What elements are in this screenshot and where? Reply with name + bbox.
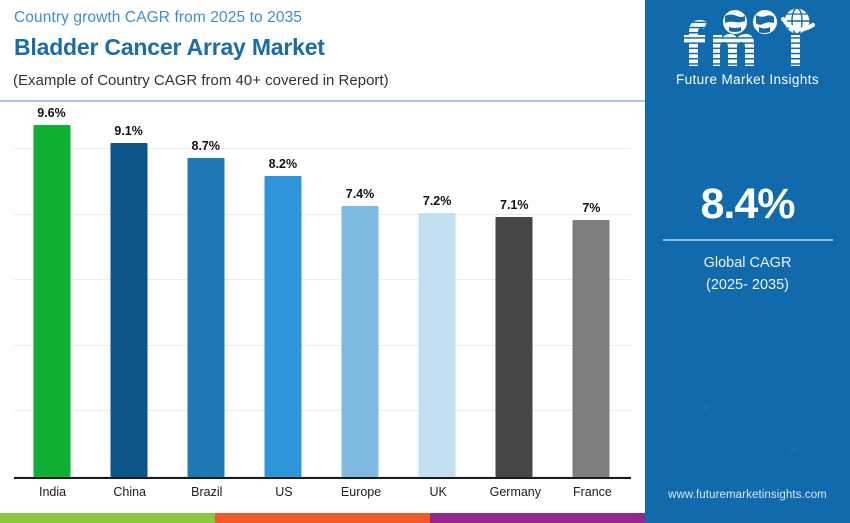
bar-group[interactable]: 7.2% xyxy=(400,103,475,477)
cagr-caption-line-1: Global CAGR xyxy=(645,252,850,274)
fmi-logo: Future Market Insights xyxy=(645,6,850,98)
bar-value-label: 8.7% xyxy=(192,139,221,153)
globe-europe-icon xyxy=(753,10,777,34)
fmi-logo-mark xyxy=(645,6,850,72)
x-axis-labels: IndiaChinaBrazilUSEuropeUKGermanyFrance xyxy=(0,479,645,509)
header-divider xyxy=(0,100,645,102)
cagr-divider xyxy=(663,239,833,241)
globe-americas-icon xyxy=(723,10,747,34)
bar-value-label: 8.2% xyxy=(269,157,298,171)
global-cagr-block: 8.4% Global CAGR (2025- 2035) xyxy=(645,180,850,297)
letter-f xyxy=(684,20,707,66)
strip-segment-green xyxy=(0,513,215,523)
bar-group[interactable]: 7.4% xyxy=(323,103,398,477)
bar-group[interactable]: 8.2% xyxy=(245,103,320,477)
bar-value-label: 9.1% xyxy=(114,124,143,138)
x-axis-tick-label: India xyxy=(14,485,91,499)
bar[interactable] xyxy=(264,176,301,477)
x-axis-tick-label: Brazil xyxy=(168,485,245,499)
global-cagr-caption: Global CAGR (2025- 2035) xyxy=(645,252,850,297)
x-axis-tick-label: Germany xyxy=(477,485,554,499)
x-axis-tick-label: US xyxy=(245,485,322,499)
x-axis-tick-label: China xyxy=(91,485,168,499)
letter-m xyxy=(713,34,754,66)
infographic-root: Country growth CAGR from 2025 to 2035 Bl… xyxy=(0,0,850,523)
bar-group[interactable]: 9.1% xyxy=(91,103,166,477)
bar[interactable] xyxy=(342,206,379,477)
x-axis-tick-label: UK xyxy=(400,485,477,499)
bar[interactable] xyxy=(496,217,533,477)
bar-group[interactable]: 7.1% xyxy=(477,103,552,477)
bar-group[interactable]: 9.6% xyxy=(14,103,89,477)
fmi-wordmark: Future Market Insights xyxy=(645,72,850,87)
bar-value-label: 9.6% xyxy=(37,106,66,120)
page-title: Bladder Cancer Array Market xyxy=(14,34,325,61)
chart-annotation: (Example of Country CAGR from 40+ covere… xyxy=(13,72,389,89)
bar-value-label: 7.2% xyxy=(423,194,452,208)
chart-eyebrow: Country growth CAGR from 2025 to 2035 xyxy=(14,9,302,27)
x-axis-tick-label: Europe xyxy=(323,485,400,499)
website-url: www.futuremarketinsights.com xyxy=(645,489,850,501)
bar[interactable] xyxy=(110,143,147,477)
letter-i xyxy=(791,35,800,66)
bar[interactable] xyxy=(419,213,456,477)
strip-segment-purple xyxy=(430,513,645,523)
strip-segment-orange xyxy=(215,513,430,523)
global-cagr-value: 8.4% xyxy=(645,180,850,229)
bar-chart-plot: 9.6%9.1%8.7%8.2%7.4%7.2%7.1%7% xyxy=(0,103,645,478)
chart-header: Country growth CAGR from 2025 to 2035 Bl… xyxy=(0,0,645,101)
bar-value-label: 7% xyxy=(582,201,600,215)
x-axis-tick-label: France xyxy=(554,485,631,499)
bar-value-label: 7.1% xyxy=(500,198,529,212)
chart-panel: Country growth CAGR from 2025 to 2035 Bl… xyxy=(0,0,645,523)
bar[interactable] xyxy=(573,220,610,477)
bar-group[interactable]: 8.7% xyxy=(168,103,243,477)
bar-group[interactable]: 7% xyxy=(554,103,629,477)
bar[interactable] xyxy=(33,125,70,477)
brand-panel: Future Market Insights 8.4% Global CAGR … xyxy=(645,0,850,523)
bottom-color-strip xyxy=(0,513,645,523)
bar-value-label: 7.4% xyxy=(346,187,375,201)
bar[interactable] xyxy=(187,158,224,477)
cagr-caption-line-2: (2025- 2035) xyxy=(645,274,850,296)
